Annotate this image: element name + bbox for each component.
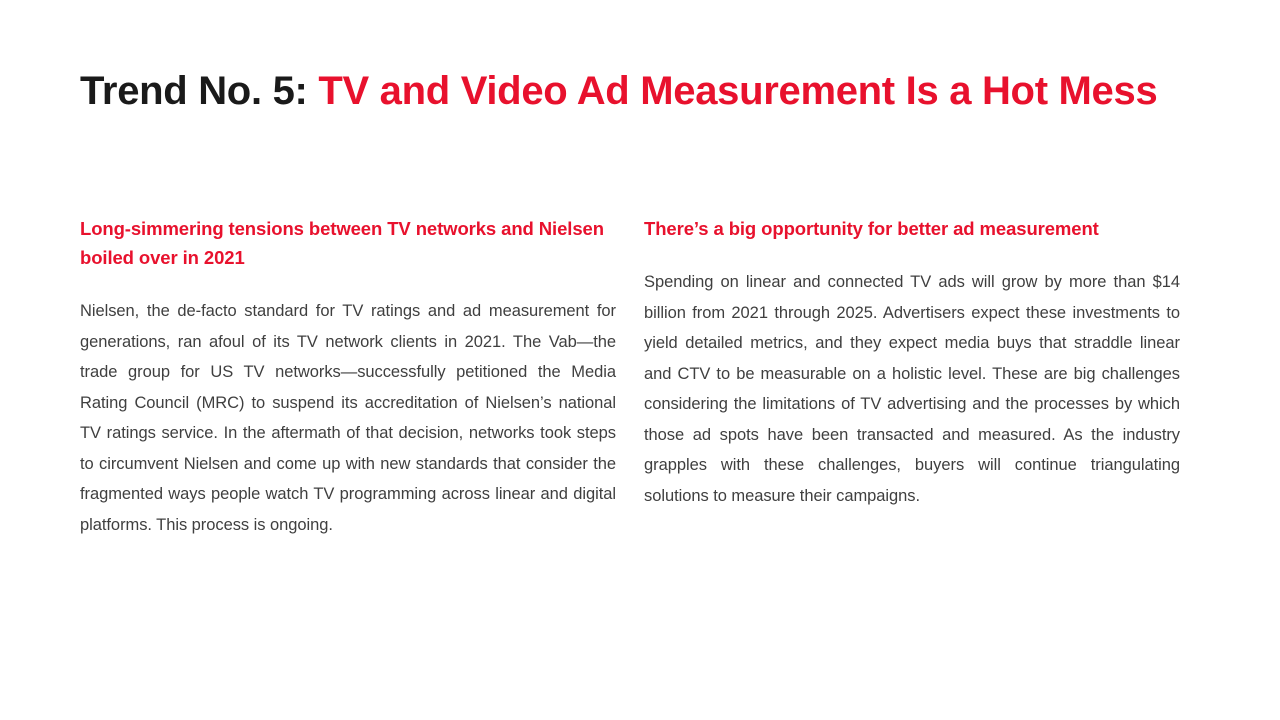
- column-body-left: Nielsen, the de-facto standard for TV ra…: [80, 296, 616, 540]
- slide-title: Trend No. 5: TV and Video Ad Measurement…: [80, 66, 1190, 116]
- column-body-right: Spending on linear and connected TV ads …: [644, 267, 1180, 511]
- slide-title-accent: TV and Video Ad Measurement Is a Hot Mes…: [318, 69, 1157, 113]
- slide-canvas: Trend No. 5: TV and Video Ad Measurement…: [0, 0, 1280, 720]
- column-heading-left: Long-simmering tensions between TV netwo…: [80, 214, 616, 272]
- content-column-right: There’s a big opportunity for better ad …: [644, 214, 1180, 511]
- column-heading-right: There’s a big opportunity for better ad …: [644, 214, 1180, 243]
- content-columns: Long-simmering tensions between TV netwo…: [80, 214, 1180, 540]
- content-column-left: Long-simmering tensions between TV netwo…: [80, 214, 616, 540]
- slide-title-lead: Trend No. 5:: [80, 69, 318, 113]
